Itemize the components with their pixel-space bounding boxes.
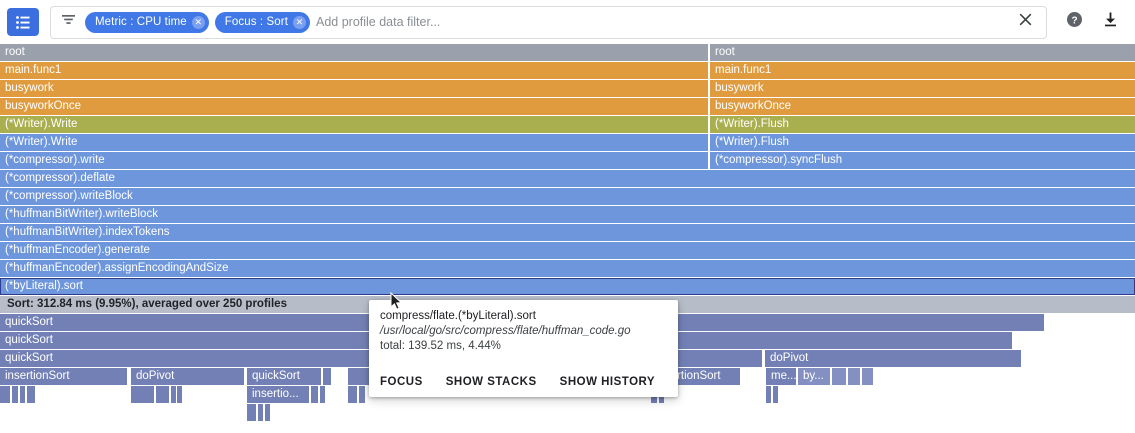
flame-frame[interactable]: (*compressor).deflate [0,170,1135,187]
flame-frame[interactable]: busyworkOnce [0,98,708,115]
flame-frame-label: (*Writer).Flush [715,118,789,130]
flame-frame[interactable] [862,368,873,385]
flame-frame[interactable]: root [710,44,1135,61]
flame-frame[interactable]: busywork [0,80,708,97]
flame-frame[interactable]: doPivot [765,350,1021,367]
flame-frame[interactable] [20,386,25,403]
flame-frame[interactable]: insertionSort [0,368,127,385]
flame-frame[interactable] [265,404,270,421]
tooltip-file-path: /usr/local/go/src/compress/flate/huffman… [380,324,667,339]
flame-frame[interactable]: by... [798,368,830,385]
flame-frame[interactable] [12,386,18,403]
flame-frame[interactable]: quickSort [247,368,321,385]
flame-frame-label: busyworkOnce [5,100,81,112]
flame-frame[interactable]: doPivot [131,368,244,385]
flame-frame-label: insertionSort [5,370,70,382]
flame-frame-label: by... [803,370,824,382]
show-stacks-button[interactable]: SHOW STACKS [446,376,537,388]
close-icon [1018,12,1033,32]
list-menu-button[interactable] [7,8,39,36]
flame-frame-label: (*Writer).Write [5,136,77,148]
help-button[interactable]: ? [1059,7,1089,37]
flame-frame[interactable]: (*Writer).Flush [710,134,1135,151]
flame-frame[interactable]: (*huffmanBitWriter).indexTokens [0,224,1135,241]
flame-frame-label: (*compressor).writeBlock [5,190,133,202]
flame-frame[interactable] [0,386,10,403]
flame-frame-label: (*compressor).syncFlush [715,154,842,166]
flame-frame[interactable] [27,386,35,403]
flame-frame[interactable] [247,404,256,421]
flame-frame[interactable] [848,368,860,385]
flame-frame-label: main.func1 [715,64,771,76]
flame-frame-label: (*Writer).Write [5,118,77,130]
flame-frame[interactable]: (*compressor).syncFlush [710,152,1135,169]
flame-frame[interactable] [131,386,154,403]
toolbar: Metric : CPU time ✕ Focus : Sort ✕ ? [0,0,1135,44]
flame-frame-label: insertio... [252,388,299,400]
flame-frame-label: quickSort [5,316,53,328]
flame-frame[interactable]: (*huffmanEncoder).generate [0,242,1135,259]
flame-frame[interactable] [171,386,176,403]
flame-frame[interactable] [359,386,365,403]
filter-chip-focus[interactable]: Focus : Sort ✕ [215,12,310,33]
flame-frame[interactable]: (*Writer).Write [0,134,708,151]
flame-frame[interactable] [766,386,771,403]
flame-frame-label: (*Writer).Flush [715,136,789,148]
filter-funnel-icon [61,12,76,32]
flame-frame-label: (*compressor).write [5,154,105,166]
download-icon [1102,11,1119,33]
flame-frame-label: busywork [5,82,54,94]
tooltip-actions: FOCUS SHOW STACKS SHOW HISTORY [380,367,667,397]
flame-frame[interactable] [773,386,778,403]
flame-frame-label: busyworkOnce [715,100,791,112]
help-circle-icon: ? [1066,11,1083,33]
flame-frame-label: busywork [715,82,764,94]
svg-text:?: ? [1071,15,1077,26]
filter-chip-metric[interactable]: Metric : CPU time ✕ [85,12,209,33]
flame-frame-label: quickSort [5,334,53,346]
flame-frame[interactable] [177,386,182,403]
flame-frame[interactable] [323,368,331,385]
flame-frame[interactable]: me... [766,368,796,385]
flame-frame[interactable]: busyworkOnce [710,98,1135,115]
flame-frame-label: quickSort [5,352,53,364]
flame-frame[interactable]: insertio... [247,386,309,403]
list-menu-icon [15,14,32,31]
flame-frame-label: main.func1 [5,64,61,76]
flame-frame[interactable] [156,386,169,403]
flame-frame[interactable] [832,368,846,385]
flame-frame[interactable]: (*huffmanBitWriter).writeBlock [0,206,1135,223]
filter-chip-metric-label: Metric : CPU time [95,16,187,28]
tooltip-function-name: compress/flate.(*byLiteral).sort [380,309,667,324]
flame-frame[interactable]: (*Writer).Write [0,116,708,133]
download-button[interactable] [1095,7,1125,37]
flame-frame-label: quickSort [252,370,300,382]
flame-frame[interactable]: busywork [710,80,1135,97]
flame-frame[interactable] [320,386,325,403]
flame-frame-label: root [5,46,25,58]
flame-frame-label: (*byLiteral).sort [5,280,83,292]
close-circle-icon[interactable]: ✕ [293,16,306,29]
flame-frame[interactable]: (*compressor).write [0,152,708,169]
filter-chip-focus-label: Focus : Sort [225,16,288,28]
flame-frame[interactable]: main.func1 [0,62,708,79]
filter-bar[interactable]: Metric : CPU time ✕ Focus : Sort ✕ [50,6,1047,39]
flame-frame-label: doPivot [136,370,174,382]
tooltip-total-value: total: 139.52 ms, 4.44% [380,339,667,354]
flame-frame[interactable]: main.func1 [710,62,1135,79]
filter-input[interactable] [316,15,1008,29]
flame-frame-label: doPivot [770,352,808,364]
flame-frame[interactable] [348,386,357,403]
flame-frame-label: (*huffmanEncoder).generate [5,244,150,256]
flame-frame[interactable]: root [0,44,708,61]
flame-frame-label: (*huffmanBitWriter).indexTokens [5,226,169,238]
flame-frame[interactable]: (*byLiteral).sort [0,278,1135,295]
clear-filter-button[interactable] [1008,7,1042,38]
frame-details-tooltip: compress/flate.(*byLiteral).sort /usr/lo… [369,300,678,397]
flame-frame[interactable]: (*huffmanEncoder).assignEncodingAndSize [0,260,1135,277]
flame-frame-label: (*compressor).deflate [5,172,115,184]
flame-frame-label: me... [771,370,796,382]
flame-frame[interactable]: (*compressor).writeBlock [0,188,1135,205]
close-circle-icon[interactable]: ✕ [192,16,205,29]
focus-button[interactable]: FOCUS [380,376,423,388]
flame-frame-label: root [715,46,735,58]
flame-frame-label: (*huffmanEncoder).assignEncodingAndSize [5,262,229,274]
flame-frame[interactable] [311,386,318,403]
flame-frame-label: (*huffmanBitWriter).writeBlock [5,208,158,220]
show-history-button[interactable]: SHOW HISTORY [560,376,655,388]
filter-funnel-button[interactable] [51,7,85,38]
flame-frame[interactable] [258,404,263,421]
flame-frame[interactable]: (*Writer).Flush [710,116,1135,133]
